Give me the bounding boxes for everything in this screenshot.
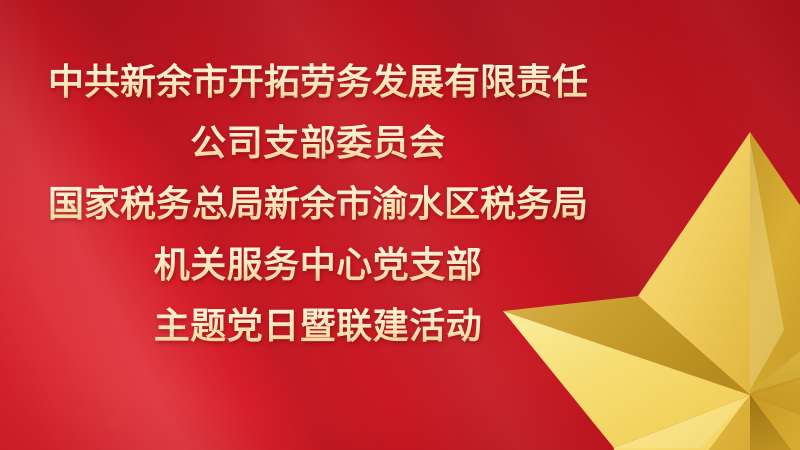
headline-line-5: 主题党日暨联建活动 [0,296,636,357]
headline-line-1: 中共新余市开拓劳务发展有限责任 [0,52,636,113]
headline-line-2: 公司支部委员会 [0,113,636,174]
poster-canvas: 中共新余市开拓劳务发展有限责任 公司支部委员会 国家税务总局新余市渝水区税务局 … [0,0,800,450]
headline-line-4: 机关服务中心党支部 [0,235,636,296]
headline-line-3: 国家税务总局新余市渝水区税务局 [0,174,636,235]
headline-block: 中共新余市开拓劳务发展有限责任 公司支部委员会 国家税务总局新余市渝水区税务局 … [0,52,636,357]
